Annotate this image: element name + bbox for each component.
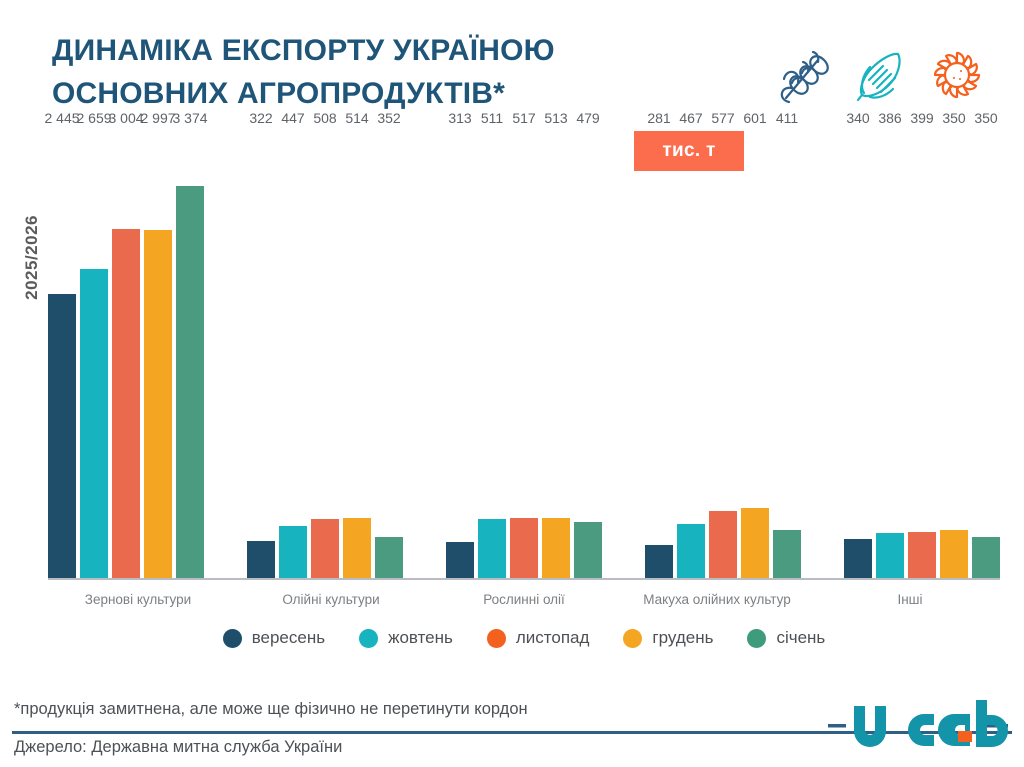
bar-value-label: 447	[281, 110, 304, 126]
legend-color-dot	[747, 629, 766, 648]
bar-value-label: 479	[576, 110, 599, 126]
bar-wrap: 352	[375, 130, 403, 578]
legend-item[interactable]: вересень	[223, 628, 325, 648]
bar-wrap: 511	[478, 130, 506, 578]
legend-label: січень	[776, 628, 825, 648]
legend-color-dot	[623, 629, 642, 648]
footnote: *продукція замитнена, але може ще фізичн…	[14, 700, 528, 719]
x-axis-category-label: Зернові культури	[48, 592, 228, 607]
bar-value-label: 2 445	[44, 110, 79, 126]
bar-value-label: 399	[910, 110, 933, 126]
bar-value-label: 511	[481, 110, 503, 126]
bar-value-label: 386	[878, 110, 901, 126]
bar-value-label: 3 374	[172, 110, 207, 126]
corn-icon	[852, 44, 910, 106]
bar[interactable]: 511	[478, 519, 506, 578]
legend-label: жовтень	[388, 628, 453, 648]
bar[interactable]: 386	[876, 533, 904, 578]
bar-wrap: 411	[773, 130, 801, 578]
bar[interactable]: 2 445	[48, 294, 76, 578]
bar[interactable]: 399	[908, 532, 936, 578]
bar-wrap: 601	[741, 130, 769, 578]
bar[interactable]: 577	[709, 511, 737, 578]
bar-group: 340386399350350	[844, 130, 1000, 578]
bar-wrap: 313	[446, 130, 474, 578]
chart-page: ДИНАМІКА ЕКСПОРТУ УКРАЇНОЮ ОСНОВНИХ АГРО…	[0, 0, 1024, 767]
bar-value-label: 322	[249, 110, 272, 126]
bar[interactable]: 517	[510, 518, 538, 578]
x-axis-category-label: Макуха олійних культур	[627, 592, 807, 607]
bar-value-label: 350	[974, 110, 997, 126]
bar-group: 322447508514352	[247, 130, 403, 578]
legend-item[interactable]: грудень	[623, 628, 713, 648]
bar-group: 281467577601411	[645, 130, 801, 578]
legend-label: вересень	[252, 628, 325, 648]
bar[interactable]: 479	[574, 522, 602, 578]
bar[interactable]: 3 004	[112, 229, 140, 578]
legend-color-dot	[223, 629, 242, 648]
chart-legend: вересеньжовтеньлистопадгруденьсічень	[48, 628, 1000, 648]
bar[interactable]: 508	[311, 519, 339, 578]
bar-value-label: 350	[942, 110, 965, 126]
bar-value-label: 411	[776, 110, 798, 126]
bar-wrap: 322	[247, 130, 275, 578]
bar-value-label: 577	[711, 110, 734, 126]
agro-icon-group	[778, 36, 1008, 114]
bar-groups: 2 4452 6593 0042 9973 374322447508514352…	[48, 130, 1000, 578]
bar-wrap: 514	[343, 130, 371, 578]
legend-label: грудень	[652, 628, 713, 648]
legend-color-dot	[487, 629, 506, 648]
bar-wrap: 350	[940, 130, 968, 578]
bar-wrap: 340	[844, 130, 872, 578]
bar[interactable]: 350	[972, 537, 1000, 578]
bar-value-label: 513	[544, 110, 567, 126]
x-axis-category-label: Олійні культури	[241, 592, 421, 607]
x-axis-category-label: Інші	[820, 592, 1000, 607]
legend-item[interactable]: листопад	[487, 628, 590, 648]
bar-wrap: 2 997	[144, 130, 172, 578]
bar-value-label: 3 004	[108, 110, 143, 126]
y-axis-label: 2025/2026	[22, 215, 46, 300]
bar[interactable]: 281	[645, 545, 673, 578]
bar-wrap: 2 445	[48, 130, 76, 578]
bar-value-label: 508	[313, 110, 336, 126]
bar-value-label: 281	[647, 110, 670, 126]
x-axis-category-label: Рослинні олії	[434, 592, 614, 607]
legend-color-dot	[359, 629, 378, 648]
bar-wrap: 2 659	[80, 130, 108, 578]
bar-wrap: 386	[876, 130, 904, 578]
bar-wrap: 350	[972, 130, 1000, 578]
bar-value-label: 352	[377, 110, 400, 126]
bar[interactable]: 601	[741, 508, 769, 578]
bar[interactable]: 350	[940, 530, 968, 578]
bar-wrap: 447	[279, 130, 307, 578]
bar-value-label: 313	[448, 110, 471, 126]
bar-wrap: 508	[311, 130, 339, 578]
bar[interactable]: 2 659	[80, 269, 108, 578]
bar-value-label: 517	[512, 110, 535, 126]
sunflower-icon	[926, 44, 988, 106]
bar[interactable]: 411	[773, 530, 801, 578]
bar[interactable]: 3 374	[176, 186, 204, 578]
bar-value-label: 340	[846, 110, 869, 126]
bar[interactable]: 447	[279, 526, 307, 578]
bar-wrap: 3 374	[176, 130, 204, 578]
bar-wrap: 479	[574, 130, 602, 578]
bar-value-label: 601	[743, 110, 766, 126]
bar[interactable]: 467	[677, 524, 705, 578]
bar-value-label: 514	[345, 110, 368, 126]
bar-wrap: 281	[645, 130, 673, 578]
axis-baseline	[48, 578, 1000, 580]
bar-wrap: 399	[908, 130, 936, 578]
bar-wrap: 517	[510, 130, 538, 578]
legend-item[interactable]: січень	[747, 628, 825, 648]
source-note: Джерело: Державна митна служба України	[14, 738, 342, 757]
bar[interactable]: 2 997	[144, 230, 172, 578]
bar[interactable]: 514	[343, 518, 371, 578]
wheat-icon	[778, 44, 836, 106]
bar-value-label: 2 997	[140, 110, 175, 126]
legend-item[interactable]: жовтень	[359, 628, 453, 648]
bar-value-label: 2 659	[76, 110, 111, 126]
bar-value-label: 467	[679, 110, 702, 126]
ucab-logo	[828, 700, 1008, 752]
legend-label: листопад	[516, 628, 590, 648]
bar-wrap: 513	[542, 130, 570, 578]
bar-group: 2 4452 6593 0042 9973 374	[48, 130, 204, 578]
bar[interactable]: 313	[446, 542, 474, 578]
bar-group: 313511517513479	[446, 130, 602, 578]
bar-wrap: 467	[677, 130, 705, 578]
page-title: ДИНАМІКА ЕКСПОРТУ УКРАЇНОЮ ОСНОВНИХ АГРО…	[52, 30, 752, 115]
bar[interactable]: 352	[375, 537, 403, 578]
x-axis-categories: Зернові культуриОлійні культуриРослинні …	[48, 592, 1000, 607]
bar-wrap: 577	[709, 130, 737, 578]
bar[interactable]: 322	[247, 541, 275, 578]
bar-wrap: 3 004	[112, 130, 140, 578]
bar[interactable]: 513	[542, 518, 570, 578]
bar[interactable]: 340	[844, 539, 872, 578]
